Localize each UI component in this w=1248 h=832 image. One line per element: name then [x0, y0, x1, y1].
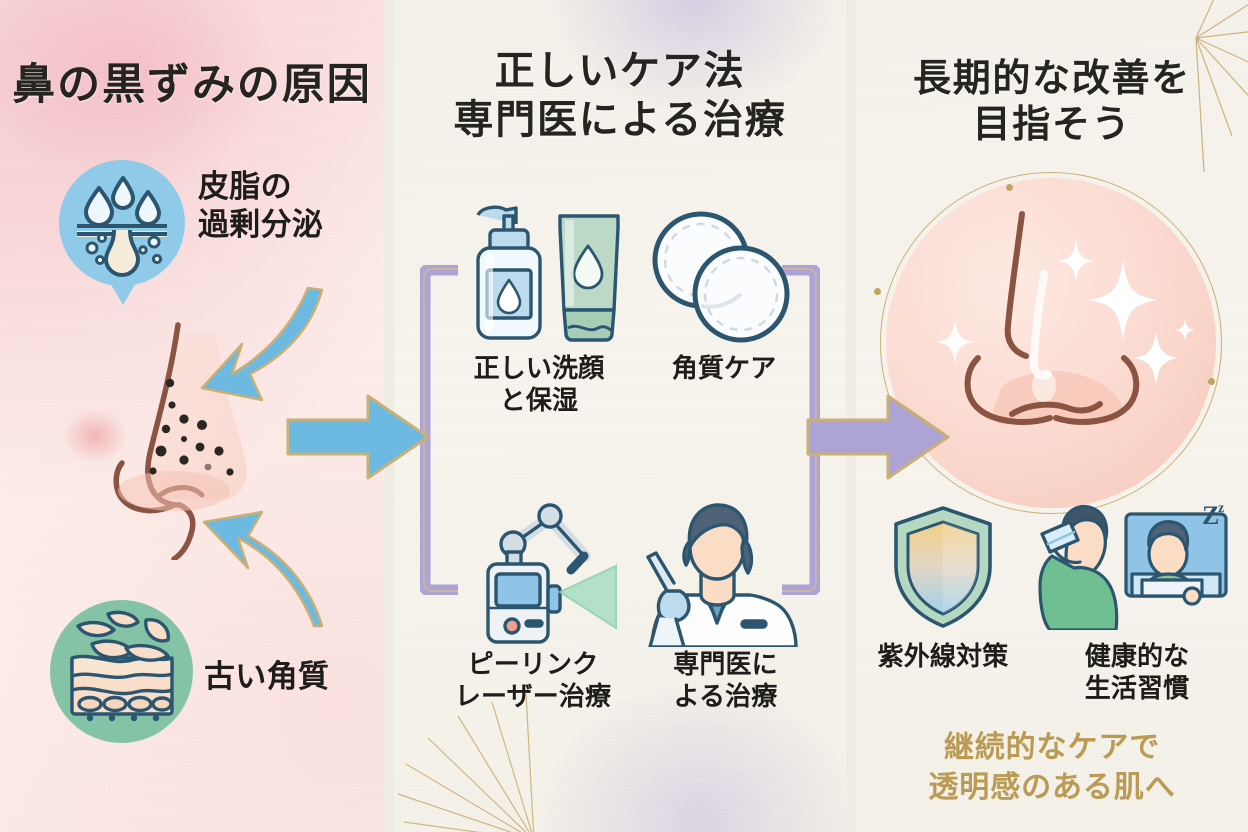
doctor-icon [646, 495, 806, 647]
treatment-item-3-line2: レーザー治療 [428, 680, 638, 712]
panel3-title-line1: 長期的な改善を [856, 56, 1248, 102]
treatment-item-3-label: ピーリンク レーザー治療 [428, 648, 638, 712]
cause-sebum-label-line1: 皮脂の [198, 168, 323, 206]
panel3-title-line2: 目指そう [856, 102, 1248, 148]
cause-sebum-label-line2: 過剰分泌 [198, 206, 323, 244]
panel1-title-text: 鼻の黒ずみの原因 [12, 62, 371, 109]
arrow-up-left-blue [190, 498, 326, 634]
treatment-item-3-line1: ピーリンク [428, 648, 638, 680]
sparkle-small-left-icon [934, 318, 976, 366]
sparkle-tiny-icon [1174, 318, 1196, 342]
drinking-water-and-sleep-icon: Z z [1034, 500, 1230, 630]
panel-treatment: 正しいケア法 専門医による治療 [394, 0, 846, 832]
treatment-item-1-label: 正しい洗顔 と保湿 [444, 352, 634, 416]
cause-sebum-label: 皮脂の 過剰分泌 [198, 168, 323, 244]
habit-item-2-line1: 健康的な [1052, 640, 1222, 672]
treatment-item-4-line2: よる治療 [638, 680, 813, 712]
panel2-title-line1: 正しいケア法 [394, 47, 846, 96]
gold-dot [1006, 184, 1013, 191]
arrow-down-left-blue [196, 282, 326, 408]
footer-line2: 透明感のある肌へ [856, 768, 1248, 808]
svg-text:z: z [1218, 501, 1224, 516]
treatment-item-4-line1: 専門医に [638, 648, 813, 680]
dead-skin-circle [50, 600, 193, 743]
treatment-item-1-line1: 正しい洗顔 [444, 352, 634, 384]
panel2-title-line2: 専門医による治療 [394, 96, 846, 145]
sebum-bubble [59, 160, 185, 286]
treatment-item-1-line2: と保湿 [444, 384, 634, 416]
habit-item-1-line1: 紫外線対策 [868, 640, 1018, 672]
dead-skin-layers-icon [50, 600, 193, 743]
habit-item-1-label: 紫外線対策 [868, 640, 1018, 672]
panel3-footer: 継続的なケアで 透明感のある肌へ [856, 728, 1248, 807]
cotton-pads-icon [640, 206, 800, 346]
gold-dot [1208, 378, 1215, 385]
uv-shield-icon [888, 504, 998, 630]
laser-machine-icon [464, 500, 644, 650]
treatment-item-4-label: 専門医に よる治療 [638, 648, 813, 712]
arrow-right-purple [806, 392, 951, 482]
cleanser-bottle-and-tube-icon [464, 186, 632, 346]
cause-keratin-label: 古い角質 [204, 658, 329, 696]
sparkle-small-icon [1056, 238, 1096, 284]
svg-text:Z: Z [1202, 501, 1219, 530]
habit-item-2-line2: 生活習慣 [1052, 672, 1222, 704]
footer-line1: 継続的なケアで [856, 728, 1248, 768]
arrow-right-blue [286, 392, 431, 482]
panel1-title: 鼻の黒ずみの原因 [0, 60, 384, 112]
treatment-item-2-line1: 角質ケア [644, 352, 804, 384]
panel3-title: 長期的な改善を 目指そう [856, 56, 1248, 149]
sparkle-medium-icon [1132, 330, 1180, 386]
panel2-title: 正しいケア法 専門医による治療 [394, 47, 846, 145]
sebum-pore-droplets-icon [59, 160, 185, 286]
habit-item-2-label: 健康的な 生活習慣 [1052, 640, 1222, 704]
gold-dot [874, 288, 881, 295]
treatment-item-2-label: 角質ケア [644, 352, 804, 384]
infographic-canvas: 鼻の黒ずみの原因 [0, 0, 1248, 832]
